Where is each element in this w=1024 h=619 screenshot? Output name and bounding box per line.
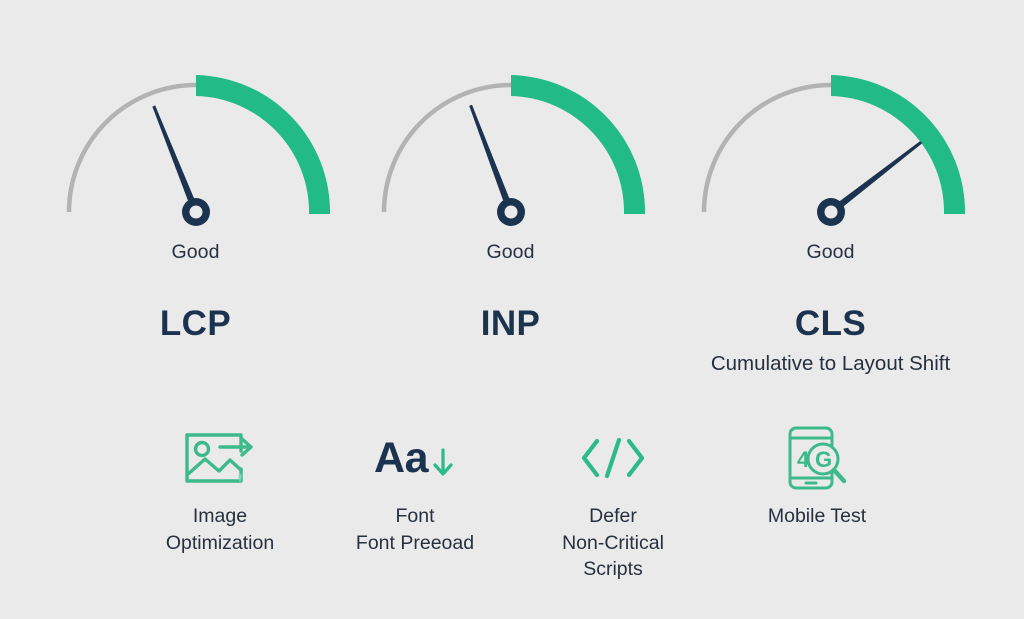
gauge-needle-hub-hole [189,206,202,219]
gauge-needle [828,139,922,215]
gauge-needle-hub-hole [504,206,517,219]
gauge-value-green [196,75,330,214]
gauge-lcp [51,52,341,227]
gauges-row: Good LCP Good INP [0,0,1024,400]
status-label-cls: Good [806,241,854,264]
tip-label-image-optimization: Image Optimization [166,503,274,556]
optimization-tips-row: Image Optimization Aa Font Font Preeoad [0,425,1024,583]
gauge-needle [466,104,513,213]
image-arrow-icon [183,425,257,491]
status-label-lcp: Good [171,241,219,264]
code-brackets-icon [577,425,649,491]
tip-label-font-preload: Font Font Preeoad [356,503,474,556]
metric-name-inp: INP [481,304,541,344]
status-label-inp: Good [486,241,534,264]
core-web-vitals-infographic: Good LCP Good INP [0,0,1024,619]
tip-label-mobile-test: Mobile Test [768,503,866,530]
gauge-value-green [511,75,645,214]
metric-name-lcp: LCP [160,304,231,344]
gauge-track-gray [384,85,511,212]
gauge-lcp-svg [51,52,341,227]
gauge-inp-svg [366,52,656,227]
gauge-cls [686,52,976,227]
mobile-4g-magnifier-icon: 4 G [782,425,852,491]
tip-label-defer-scripts: Defer Non-Critical Scripts [562,503,664,583]
metric-card-lcp: Good LCP [38,0,353,344]
tip-font-preload: Aa Font Font Preeoad [320,425,510,556]
font-aa-down-arrow-icon: Aa [374,425,456,491]
metric-card-cls: Good CLS Cumulative to Layout Shift [673,0,988,378]
gauge-needle [150,105,199,213]
tip-mobile-test: 4 G Mobile Test [722,425,912,530]
font-aa-text: Aa [374,437,428,480]
metric-subtitle-cls: Cumulative to Layout Shift [711,350,950,378]
tip-image-optimization: Image Optimization [120,425,320,556]
metric-card-inp: Good INP [353,0,668,344]
tip-defer-scripts: Defer Non-Critical Scripts [518,425,708,583]
gauge-cls-svg [686,52,976,227]
gauge-track-gray [704,85,831,212]
mobile-g-label: G [815,447,832,472]
gauge-inp [366,52,656,227]
down-arrow-icon [430,444,456,480]
metric-name-cls: CLS [795,304,866,344]
gauge-track-gray [69,85,196,212]
gauge-needle-hub-hole [824,206,837,219]
